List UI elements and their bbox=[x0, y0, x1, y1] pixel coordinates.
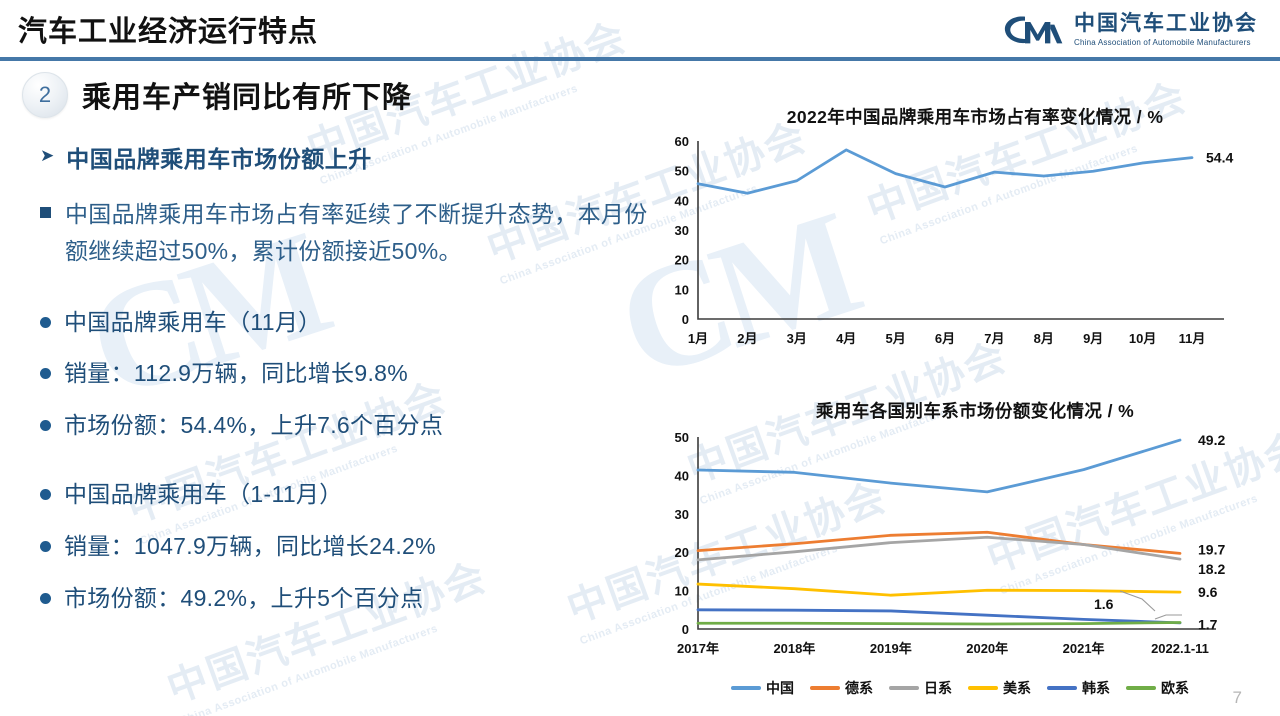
x-tick-label: 3月 bbox=[787, 331, 807, 346]
legend-swatch-icon bbox=[731, 686, 761, 690]
x-tick-label: 2022.1-11 bbox=[1151, 641, 1209, 656]
legend-swatch-icon bbox=[1047, 686, 1077, 690]
y-tick-label: 50 bbox=[675, 164, 689, 179]
group1-line-1: 中国品牌乘用车（11月） bbox=[64, 305, 321, 341]
y-tick-label: 0 bbox=[682, 312, 689, 327]
section-heading: 2 乘用车产销同比有所下降 bbox=[22, 72, 412, 118]
data-label-日系: 18.2 bbox=[1198, 561, 1225, 577]
legend-item-美系[interactable]: 美系 bbox=[968, 678, 1031, 698]
dot-bullet-icon bbox=[40, 420, 51, 431]
series-line-欧系 bbox=[698, 622, 1180, 624]
dot-bullet-icon bbox=[40, 593, 51, 604]
y-tick-label: 20 bbox=[675, 545, 689, 560]
leader-line bbox=[1155, 615, 1182, 619]
list-item: 市场份额：49.2%，上升5个百分点 bbox=[40, 581, 650, 617]
group-2: 中国品牌乘用车（1-11月） 销量：1047.9万辆，同比增长24.2% 市场份… bbox=[40, 477, 650, 616]
list-item: 中国品牌乘用车（11月） bbox=[40, 305, 650, 341]
page-number: 7 bbox=[1233, 688, 1242, 708]
leader-line bbox=[1120, 591, 1155, 611]
series-line-美系 bbox=[698, 584, 1180, 595]
y-tick-label: 30 bbox=[675, 507, 689, 522]
chart-market-share-by-origin: 乘用车各国别车系市场份额变化情况 / % 010203040502017年201… bbox=[650, 398, 1270, 698]
y-tick-label: 50 bbox=[675, 430, 689, 445]
list-item: 市场份额：54.4%，上升7.6个百分点 bbox=[40, 408, 650, 444]
data-label-德系: 19.7 bbox=[1198, 541, 1225, 557]
x-tick-label: 8月 bbox=[1034, 331, 1054, 346]
caam-logo-icon bbox=[1001, 12, 1065, 48]
group2-line-3: 市场份额：49.2%，上升5个百分点 bbox=[64, 581, 423, 617]
group2-line-1: 中国品牌乘用车（1-11月） bbox=[64, 477, 343, 513]
chart-market-share-monthly: 2022年中国品牌乘用车市场占有率变化情况 / % 01020304050601… bbox=[650, 104, 1270, 364]
x-tick-label: 6月 bbox=[935, 331, 955, 346]
legend-item-中国[interactable]: 中国 bbox=[731, 678, 794, 698]
y-tick-label: 10 bbox=[675, 282, 689, 297]
series-line-中国 bbox=[698, 440, 1180, 492]
legend-label: 中国 bbox=[766, 678, 794, 698]
x-tick-label: 2018年 bbox=[773, 641, 815, 656]
y-tick-label: 60 bbox=[675, 134, 689, 149]
logo-name-en: China Association of Automobile Manufact… bbox=[1074, 38, 1258, 47]
dot-bullet-icon bbox=[40, 317, 51, 328]
x-tick-label: 2020年 bbox=[966, 641, 1008, 656]
slide-root: CM CM 中国汽车工业协会 China Association of Auto… bbox=[0, 0, 1280, 716]
dot-bullet-icon bbox=[40, 541, 51, 552]
y-tick-label: 0 bbox=[682, 622, 689, 637]
x-tick-label: 5月 bbox=[885, 331, 905, 346]
group2-line-2: 销量：1047.9万辆，同比增长24.2% bbox=[64, 529, 436, 565]
legend-swatch-icon bbox=[889, 686, 919, 690]
level2-paragraph: 中国品牌乘用车市场占有率延续了不断提升态势，本月份额继续超过50%，累计份额接近… bbox=[65, 196, 650, 271]
x-tick-label: 11月 bbox=[1179, 331, 1206, 346]
page-title: 汽车工业经济运行特点 bbox=[18, 8, 318, 50]
square-bullet-icon bbox=[40, 207, 51, 218]
y-tick-label: 30 bbox=[675, 223, 689, 238]
series-line-日系 bbox=[698, 537, 1180, 560]
chart2-legend: 中国德系日系美系韩系欧系 bbox=[650, 678, 1270, 698]
level2-bullet-row: 中国品牌乘用车市场占有率延续了不断提升态势，本月份额继续超过50%，累计份额接近… bbox=[40, 196, 650, 271]
section-title: 乘用车产销同比有所下降 bbox=[82, 74, 412, 116]
left-content-column: ➤ 中国品牌乘用车市场份额上升 中国品牌乘用车市场占有率延续了不断提升态势，本月… bbox=[40, 140, 650, 616]
group-1: 中国品牌乘用车（11月） 销量：112.9万辆，同比增长9.8% 市场份额：54… bbox=[40, 305, 650, 444]
legend-item-欧系[interactable]: 欧系 bbox=[1126, 678, 1189, 698]
data-label-韩系: 1.6 bbox=[1094, 596, 1114, 612]
legend-label: 美系 bbox=[1003, 678, 1031, 698]
group1-line-3: 市场份额：54.4%，上升7.6个百分点 bbox=[64, 408, 443, 444]
arrow-bullet-icon: ➤ bbox=[40, 147, 54, 164]
dot-bullet-icon bbox=[40, 368, 51, 379]
dot-bullet-icon bbox=[40, 489, 51, 500]
section-number-badge: 2 bbox=[22, 72, 68, 118]
x-tick-label: 1月 bbox=[688, 331, 708, 346]
y-tick-label: 40 bbox=[675, 193, 689, 208]
chart1-title: 2022年中国品牌乘用车市场占有率变化情况 / % bbox=[680, 104, 1270, 129]
header-divider bbox=[0, 57, 1280, 61]
legend-item-德系[interactable]: 德系 bbox=[810, 678, 873, 698]
legend-swatch-icon bbox=[1126, 686, 1156, 690]
group1-line-2: 销量：112.9万辆，同比增长9.8% bbox=[64, 356, 408, 392]
x-tick-label: 9月 bbox=[1083, 331, 1103, 346]
series-line-德系 bbox=[698, 532, 1180, 553]
chart2-title: 乘用车各国别车系市场份额变化情况 / % bbox=[680, 398, 1270, 423]
caam-logo: 中国汽车工业协会 China Association of Automobile… bbox=[1001, 12, 1258, 48]
y-tick-label: 10 bbox=[675, 584, 689, 599]
y-tick-label: 20 bbox=[675, 253, 689, 268]
data-label-中国: 49.2 bbox=[1198, 432, 1225, 448]
x-tick-label: 10月 bbox=[1129, 331, 1156, 346]
x-tick-label: 7月 bbox=[984, 331, 1004, 346]
x-tick-label: 4月 bbox=[836, 331, 856, 346]
x-tick-label: 2021年 bbox=[1063, 641, 1105, 656]
data-label-美系: 9.6 bbox=[1198, 584, 1218, 600]
watermark-text-en: China Association of Automobile Manufact… bbox=[178, 601, 498, 716]
list-item: 中国品牌乘用车（1-11月） bbox=[40, 477, 650, 513]
chart1-plot: 01020304050601月2月3月4月5月6月7月8月9月10月11月54.… bbox=[650, 129, 1270, 364]
y-tick-label: 40 bbox=[675, 468, 689, 483]
data-label-欧系: 1.7 bbox=[1198, 616, 1218, 632]
list-item: 销量：112.9万辆，同比增长9.8% bbox=[40, 356, 650, 392]
legend-swatch-icon bbox=[968, 686, 998, 690]
legend-label: 欧系 bbox=[1161, 678, 1189, 698]
chart-axes bbox=[698, 141, 1224, 319]
legend-label: 德系 bbox=[845, 678, 873, 698]
legend-label: 日系 bbox=[924, 678, 952, 698]
series-line-中国品牌乘用车市场占有率 bbox=[698, 150, 1192, 193]
list-item: 销量：1047.9万辆，同比增长24.2% bbox=[40, 529, 650, 565]
level1-heading: 中国品牌乘用车市场份额上升 bbox=[66, 140, 372, 174]
legend-label: 韩系 bbox=[1082, 678, 1110, 698]
x-tick-label: 2017年 bbox=[677, 641, 719, 656]
logo-name-cn: 中国汽车工业协会 bbox=[1074, 13, 1258, 35]
x-tick-label: 2月 bbox=[737, 331, 757, 346]
chart2-plot: 010203040502017年2018年2019年2020年2021年2022… bbox=[650, 423, 1270, 676]
data-label-中国品牌乘用车市场占有率: 54.4 bbox=[1206, 150, 1233, 166]
level1-bullet-row: ➤ 中国品牌乘用车市场份额上升 bbox=[40, 140, 650, 174]
x-tick-label: 2019年 bbox=[870, 641, 912, 656]
legend-item-韩系[interactable]: 韩系 bbox=[1047, 678, 1110, 698]
legend-swatch-icon bbox=[810, 686, 840, 690]
legend-item-日系[interactable]: 日系 bbox=[889, 678, 952, 698]
